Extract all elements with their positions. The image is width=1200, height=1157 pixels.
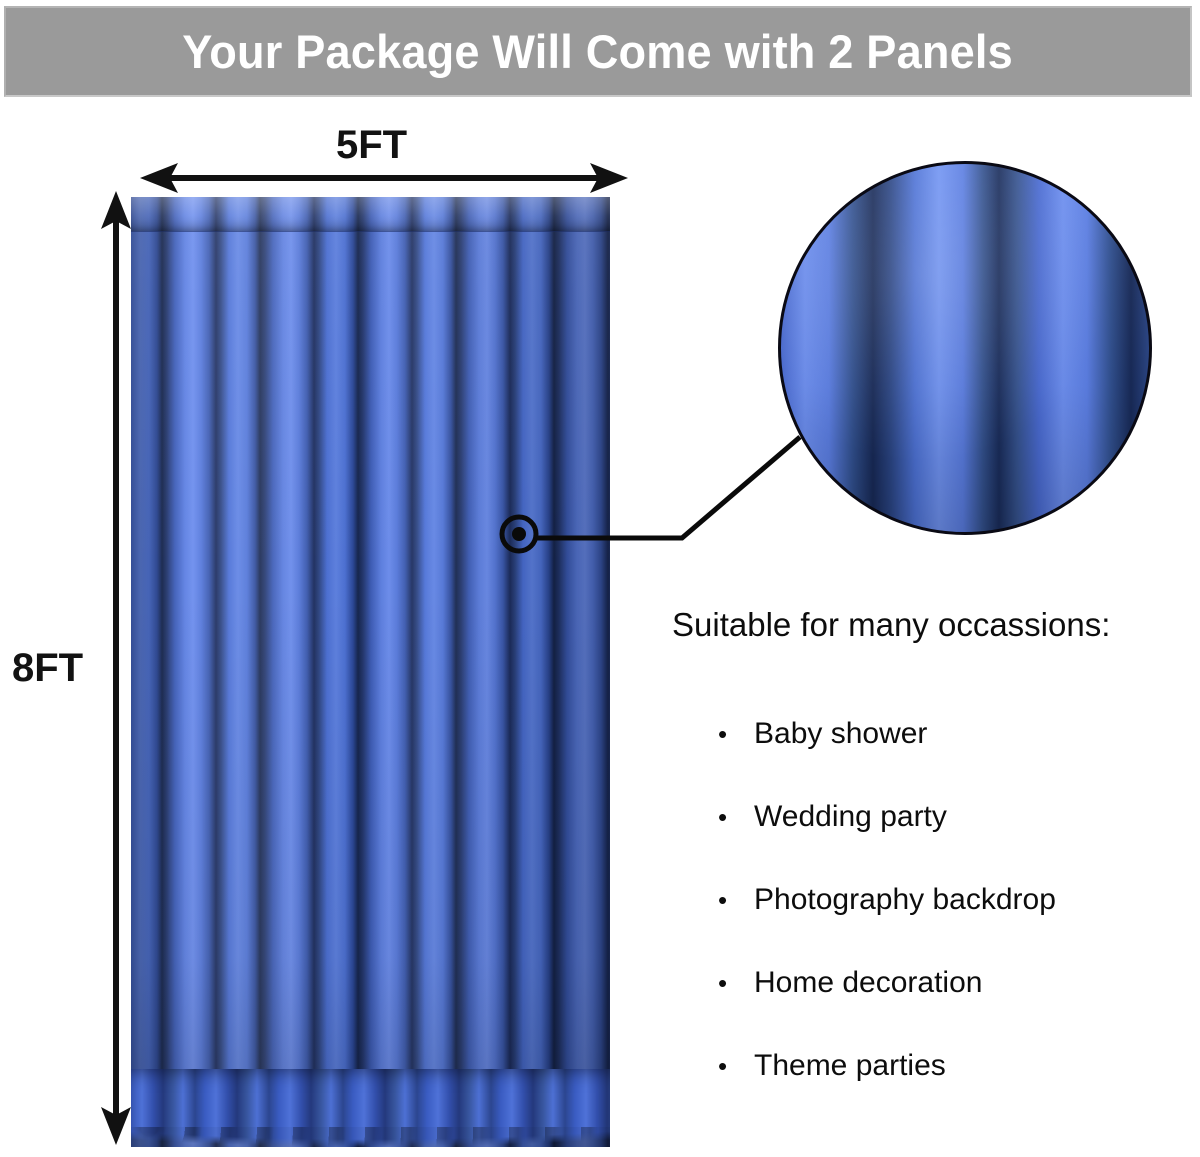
list-item: • Wedding party — [718, 775, 1056, 858]
bullet-icon: • — [718, 804, 754, 830]
page-title: Your Package Will Come with 2 Panels — [183, 28, 1014, 75]
bullet-icon: • — [718, 887, 754, 913]
curtain-panel-image — [131, 197, 610, 1147]
list-item-label: Home decoration — [754, 966, 982, 1000]
bullet-icon: • — [718, 970, 754, 996]
list-item: • Photography backdrop — [718, 858, 1056, 941]
curtain-hem-folds — [131, 1127, 610, 1147]
height-dimension-label: 8FT — [12, 648, 83, 688]
occasions-list: • Baby shower • Wedding party • Photogra… — [718, 692, 1056, 1107]
curtain-rod-pocket — [131, 197, 610, 232]
header-banner: Your Package Will Come with 2 Panels — [4, 6, 1192, 97]
list-item-label: Theme parties — [754, 1049, 946, 1083]
curtain-vertical-shading — [131, 197, 610, 1147]
bullet-icon: • — [718, 721, 754, 747]
list-item-label: Baby shower — [754, 717, 927, 751]
bullet-icon: • — [718, 1053, 754, 1079]
width-arrow-5ft — [140, 163, 628, 193]
product-infographic: Your Package Will Come with 2 Panels — [0, 0, 1200, 1157]
height-arrow-8ft — [101, 191, 131, 1145]
fabric-closeup-inset — [778, 161, 1152, 535]
list-item: • Home decoration — [718, 941, 1056, 1024]
curtain-rod-pocket-gloss — [131, 197, 610, 231]
fabric-closeup-shading — [781, 164, 1149, 532]
curtain-bottom-hem — [131, 1069, 610, 1147]
width-dimension-label: 5FT — [336, 125, 407, 165]
list-item: • Baby shower — [718, 692, 1056, 775]
list-item-label: Wedding party — [754, 800, 947, 834]
occasions-heading: Suitable for many occassions: — [672, 608, 1110, 641]
list-item: • Theme parties — [718, 1024, 1056, 1107]
list-item-label: Photography backdrop — [754, 883, 1056, 917]
